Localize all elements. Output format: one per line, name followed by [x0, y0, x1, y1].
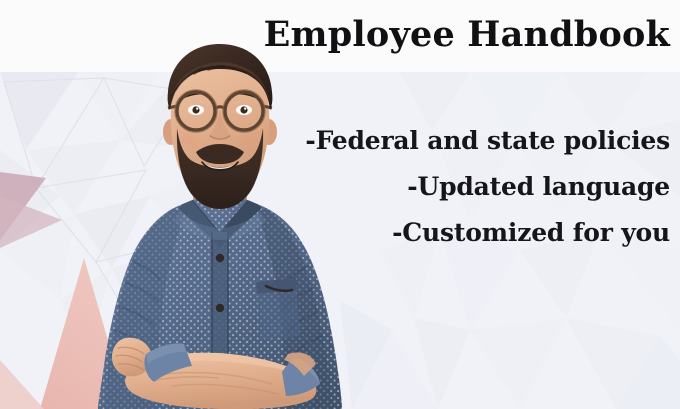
list-item: -Federal and state policies — [230, 118, 670, 164]
feature-list: -Federal and state policies -Updated lan… — [230, 118, 670, 256]
list-item: -Customized for you — [230, 210, 670, 256]
rose-triangle-corner — [0, 360, 44, 409]
list-item: -Updated language — [230, 164, 670, 210]
employee-handbook-banner: Employee Handbook -Federal and state pol… — [0, 0, 680, 409]
page-title: Employee Handbook — [250, 14, 670, 56]
